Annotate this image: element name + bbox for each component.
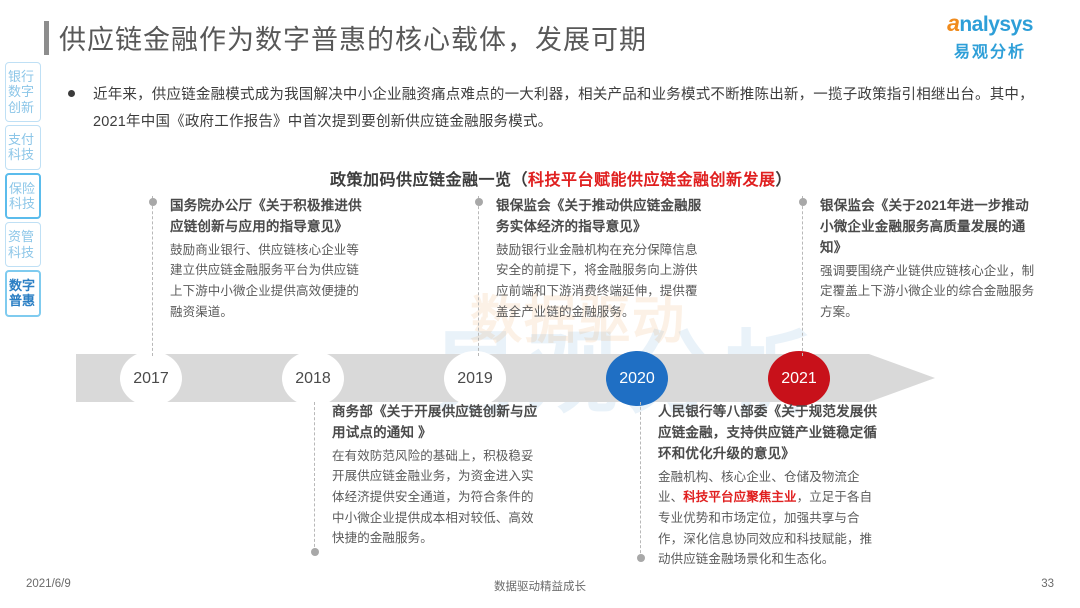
card-text-highlight: 科技平台应聚焦主业 [683,490,796,504]
policy-card-2018: 商务部《关于开展供应链创新与应用试点的通知 》 在有效防范风险的基础上，积极稳妥… [314,402,540,549]
card-marker-dot [799,198,807,206]
timeline-node-2019[interactable]: 2019 [444,351,506,406]
card-connector-line [478,196,480,356]
card-title: 银保监会《关于推动供应链金融服务实体经济的指导意见》 [496,196,710,238]
sidebar-item-label: 银行数字创新 [8,69,38,115]
logo-wordmark: analysys [930,12,1050,35]
timeline-node-label: 2021 [781,370,817,388]
card-text: 在有效防范风险的基础上，积极稳妥开展供应链金融业务，为资金进入实体经济提供安全通… [332,446,540,549]
card-title: 商务部《关于开展供应链创新与应用试点的通知 》 [332,402,540,444]
card-marker-dot [637,554,645,562]
sidebar-item-payment-tech[interactable]: 支付科技 [5,125,41,170]
logo-chinese-name: 易观分析 [930,38,1050,62]
section-heading-tail: ） [776,172,793,189]
timeline-node-label: 2018 [295,370,331,388]
card-connector-line [640,402,642,558]
section-heading: 政策加码供应链金融一览（科技平台赋能供应链金融创新发展） [330,166,792,190]
intro-text: 近年来，供应链金融模式成为我国解决中小企业融资痛点难点的一大利器，相关产品和业务… [93,82,1058,136]
timeline-arrow-icon [869,354,935,402]
footer: 2021/6/9 数据驱动精益成长 33 [0,578,1080,598]
card-title: 人民银行等八部委《关于规范发展供应链金融，支持供应链产业链稳定循环和优化升级的意… [658,402,878,465]
sidebar-item-asset-management-tech[interactable]: 资管科技 [5,222,41,267]
bullet-dot-icon [68,90,75,97]
sidebar-item-digital-inclusive-finance[interactable]: 数字普惠 [5,270,41,317]
title-accent-bar [44,21,49,55]
timeline-node-2018[interactable]: 2018 [282,351,344,406]
footer-page-number: 33 [1041,578,1054,590]
card-body: 商务部《关于开展供应链创新与应用试点的通知 》 在有效防范风险的基础上，积极稳妥… [332,402,540,549]
section-heading-main: 政策加码供应链金融一览（ [330,172,528,189]
timeline-node-2020[interactable]: 2020 [606,351,668,406]
sidebar-item-label: 支付科技 [8,132,38,163]
card-title: 银保监会《关于2021年进一步推动小微企业金融服务高质量发展的通知》 [820,196,1042,259]
card-text: 金融机构、核心企业、仓储及物流企业、科技平台应聚焦主业，立足于各自专业优势和市场… [658,467,878,570]
card-text: 鼓励银行业金融机构在充分保障信息安全的前提下，将金融服务向上游供应前端和下游消费… [496,240,710,323]
analysys-logo: analysys 易观分析 [930,12,1050,62]
sidebar: 银行数字创新 支付科技 保险科技 资管科技 数字普惠 [5,62,45,317]
card-marker-dot [475,198,483,206]
policy-card-2019: 银保监会《关于推动供应链金融服务实体经济的指导意见》 鼓励银行业金融机构在充分保… [478,196,710,322]
page-title: 供应链金融作为数字普惠的核心载体，发展可期 [59,18,647,57]
intro-paragraph: 近年来，供应链金融模式成为我国解决中小企业融资痛点难点的一大利器，相关产品和业务… [68,82,1058,136]
card-body: 人民银行等八部委《关于规范发展供应链金融，支持供应链产业链稳定循环和优化升级的意… [658,402,878,570]
timeline-band: 2017 2018 2019 2020 2021 [76,354,936,402]
sidebar-item-label: 保险科技 [9,181,37,212]
timeline-node-label: 2019 [457,370,493,388]
policy-card-2017: 国务院办公厅《关于积极推进供应链创新与应用的指导意见》 鼓励商业银行、供应链核心… [152,196,370,322]
card-connector-line [152,196,154,356]
timeline-node-label: 2020 [619,370,655,388]
sidebar-item-label: 资管科技 [8,229,38,260]
footer-slogan: 数据驱动精益成长 [0,578,1080,594]
sidebar-item-label: 数字普惠 [9,278,37,309]
card-text: 强调要围绕产业链供应链核心企业，制定覆盖上下游小微企业的综合金融服务方案。 [820,261,1042,323]
policy-card-2020: 人民银行等八部委《关于规范发展供应链金融，支持供应链产业链稳定循环和优化升级的意… [640,402,878,570]
timeline-node-2021[interactable]: 2021 [768,351,830,406]
card-body: 银保监会《关于推动供应链金融服务实体经济的指导意见》 鼓励银行业金融机构在充分保… [496,196,710,322]
card-connector-line [314,402,316,552]
sidebar-item-bank-digital-innovation[interactable]: 银行数字创新 [5,62,41,122]
sidebar-item-insurance-tech[interactable]: 保险科技 [5,173,41,220]
card-body: 国务院办公厅《关于积极推进供应链创新与应用的指导意见》 鼓励商业银行、供应链核心… [170,196,370,322]
logo-word-text: nalysys [959,13,1033,36]
logo-a-icon: a [947,10,959,36]
card-body: 银保监会《关于2021年进一步推动小微企业金融服务高质量发展的通知》 强调要围绕… [820,196,1042,323]
card-marker-dot [311,548,319,556]
card-title: 国务院办公厅《关于积极推进供应链创新与应用的指导意见》 [170,196,370,238]
timeline-node-label: 2017 [133,370,169,388]
card-marker-dot [149,198,157,206]
section-heading-highlight: 科技平台赋能供应链金融创新发展 [528,172,776,189]
timeline-node-2017[interactable]: 2017 [120,351,182,406]
card-connector-line [802,196,804,356]
page-title-bar: 供应链金融作为数字普惠的核心载体，发展可期 [44,18,647,57]
card-text: 鼓励商业银行、供应链核心企业等建立供应链金融服务平台为供应链上下游中小微企业提供… [170,240,370,323]
policy-card-2021: 银保监会《关于2021年进一步推动小微企业金融服务高质量发展的通知》 强调要围绕… [802,196,1042,323]
